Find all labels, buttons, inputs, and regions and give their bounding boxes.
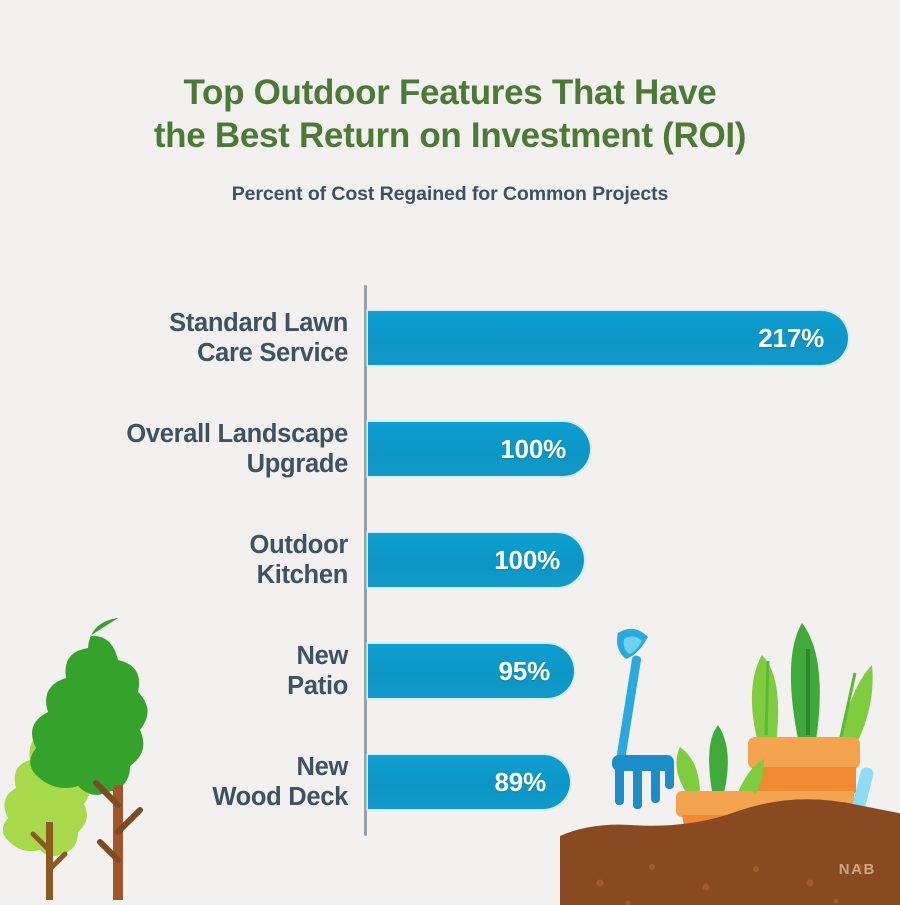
title-line-2: the Best Return on Investment (ROI) bbox=[60, 115, 840, 158]
bar-label: Outdoor Kitchen bbox=[0, 530, 348, 590]
bar-label-line: Upgrade bbox=[0, 449, 348, 479]
bar-label-line: Overall Landscape bbox=[0, 419, 348, 449]
bar-label-line: New bbox=[0, 752, 348, 782]
bar-value-label: 100% bbox=[500, 434, 590, 465]
bar-row[interactable]: Overall Landscape Upgrade 100% bbox=[0, 418, 900, 480]
watermark: NAB bbox=[839, 861, 876, 878]
bar-label: Standard Lawn Care Service bbox=[0, 308, 348, 368]
chart-subtitle: Percent of Cost Regained for Common Proj… bbox=[0, 183, 900, 206]
bar-fill[interactable]: 89% bbox=[368, 755, 570, 809]
bar-label-line: Kitchen bbox=[0, 560, 348, 590]
bar-label-line: Standard Lawn bbox=[0, 308, 348, 338]
bar-value-label: 95% bbox=[499, 656, 574, 687]
bar-label-line: Patio bbox=[0, 671, 348, 701]
bar-label: Overall Landscape Upgrade bbox=[0, 419, 348, 479]
bar-value-label: 217% bbox=[758, 323, 848, 354]
bar-label-line: Wood Deck bbox=[0, 782, 348, 812]
bar-value-label: 89% bbox=[495, 767, 570, 798]
bar-chart-plot-area: Standard Lawn Care Service 217% Overall … bbox=[0, 285, 900, 840]
bar-fill[interactable]: 95% bbox=[368, 644, 574, 698]
bar-row[interactable]: Standard Lawn Care Service 217% bbox=[0, 307, 900, 369]
bar-label-line: New bbox=[0, 641, 348, 671]
bar-fill[interactable]: 100% bbox=[368, 533, 584, 587]
bar-value-label: 100% bbox=[494, 545, 584, 576]
bar-row[interactable]: New Patio 95% bbox=[0, 640, 900, 702]
bar-row[interactable]: Outdoor Kitchen 100% bbox=[0, 529, 900, 591]
page-title: Top Outdoor Features That Have the Best … bbox=[0, 72, 900, 157]
bar-label: New Patio bbox=[0, 641, 348, 701]
bar-fill[interactable]: 100% bbox=[368, 422, 590, 476]
bar-track: 89% bbox=[368, 755, 570, 809]
bar-label: New Wood Deck bbox=[0, 752, 348, 812]
bar-fill[interactable]: 217% bbox=[368, 311, 848, 365]
title-line-1: Top Outdoor Features That Have bbox=[60, 72, 840, 115]
bar-label-line: Care Service bbox=[0, 338, 348, 368]
bar-row[interactable]: New Wood Deck 89% bbox=[0, 751, 900, 813]
bar-track: 217% bbox=[368, 311, 848, 365]
header-block: Top Outdoor Features That Have the Best … bbox=[0, 72, 900, 206]
bar-track: 100% bbox=[368, 533, 584, 587]
infographic-canvas: Top Outdoor Features That Have the Best … bbox=[0, 0, 900, 900]
bar-track: 100% bbox=[368, 422, 590, 476]
bar-track: 95% bbox=[368, 644, 574, 698]
bar-label-line: Outdoor bbox=[0, 530, 348, 560]
